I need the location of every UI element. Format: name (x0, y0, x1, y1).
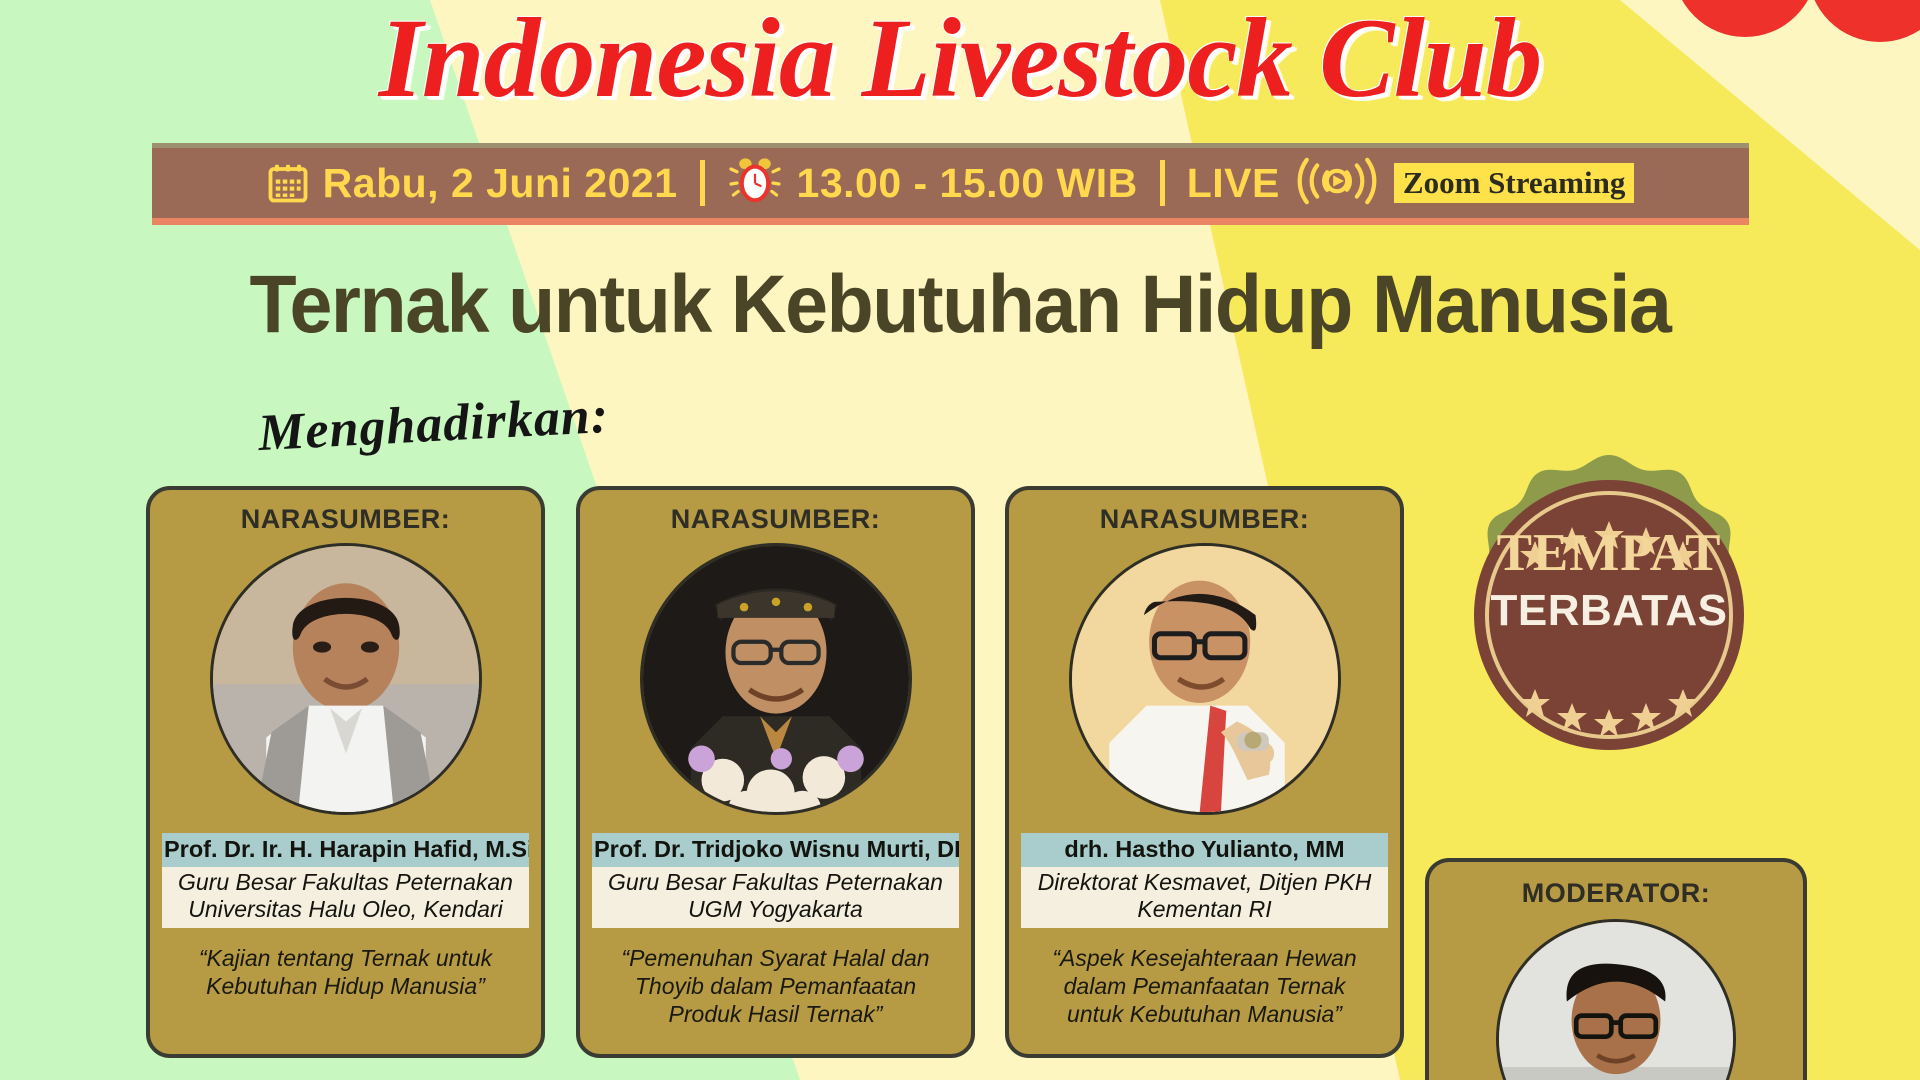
time-segment: 13.00 - 15.00 WIB (705, 155, 1160, 212)
speaker-affiliation-line2: UGM Yogyakarta (596, 896, 955, 923)
speaker-topic-line3: Produk Hasil Ternak” (592, 1000, 959, 1028)
speaker-role-label: NARASUMBER: (671, 504, 881, 535)
broadcast-icon (1294, 157, 1380, 210)
speaker-card: NARASUMBER: Prof. Dr. Ir. H. Harapin Haf… (146, 486, 545, 1058)
calendar-icon (267, 162, 309, 204)
moderator-card: MODERATOR: RNAK (1425, 858, 1807, 1080)
speaker-topic-line1: “Aspek Kesejahteraan Hewan (1021, 944, 1388, 972)
speaker-name: drh. Hastho Yulianto, MM (1021, 833, 1388, 867)
alarm-clock-icon (727, 155, 783, 212)
live-segment: LIVE Zoom Streaming (1165, 157, 1657, 210)
presenting-label: Menghadirkan: (257, 386, 611, 463)
speaker-topic-line2: Kebutuhan Hidup Manusia” (162, 972, 529, 1000)
speaker-topic: “Kajian tentang Ternak untuk Kebutuhan H… (162, 944, 529, 1000)
speaker-topic: “Aspek Kesejahteraan Hewan dalam Pemanfa… (1021, 944, 1388, 1028)
speaker-topic-line1: “Kajian tentang Ternak untuk (162, 944, 529, 972)
speaker-topic-line3: untuk Kebutuhan Manusia” (1021, 1000, 1388, 1028)
speaker-role-label: NARASUMBER: (1100, 504, 1310, 535)
event-info-banner: Rabu, 2 Juni 2021 (152, 143, 1749, 225)
speaker-photo (1069, 543, 1341, 815)
speaker-card: NARASUMBER: drh. Hastho Yulianto, MM Dir… (1005, 486, 1404, 1058)
event-time: 13.00 - 15.00 WIB (797, 160, 1138, 207)
speaker-affiliation: Guru Besar Fakultas Peternakan Universit… (162, 867, 529, 928)
live-label: LIVE (1187, 160, 1280, 207)
speaker-affiliation-line1: Direktorat Kesmavet, Ditjen PKH (1025, 869, 1384, 896)
speaker-affiliation-line1: Guru Besar Fakultas Peternakan (166, 869, 525, 896)
speaker-card: NARASUMBER: Pro (576, 486, 975, 1058)
speaker-topic-line2: Thoyib dalam Pemanfaatan (592, 972, 959, 1000)
moderator-photo: RNAK (1496, 919, 1736, 1080)
platform-badge: Zoom Streaming (1394, 163, 1634, 203)
speaker-photo (640, 543, 912, 815)
moderator-role-label: MODERATOR: (1522, 878, 1711, 909)
speaker-affiliation: Guru Besar Fakultas Peternakan UGM Yogya… (592, 867, 959, 928)
speaker-affiliation-line2: Kementan RI (1025, 896, 1384, 923)
event-headline: Ternak untuk Kebutuhan Hidup Manusia (58, 258, 1863, 352)
page-title: Indonesia Livestock Club (0, 0, 1920, 124)
speaker-affiliation-line2: Universitas Halu Oleo, Kendari (166, 896, 525, 923)
date-segment: Rabu, 2 Juni 2021 (245, 160, 700, 207)
speaker-name: Prof. Dr. Tridjoko Wisnu Murti, DEA (592, 833, 959, 867)
speaker-name: Prof. Dr. Ir. H. Harapin Hafid, M.Si (162, 833, 529, 867)
status-badge: TEMPAT TERBATAS (1443, 449, 1775, 781)
speaker-topic-line2: dalam Pemanfaatan Ternak (1021, 972, 1388, 1000)
speaker-topic-line1: “Pemenuhan Syarat Halal dan (592, 944, 959, 972)
event-date: Rabu, 2 Juni 2021 (323, 160, 678, 207)
speaker-role-label: NARASUMBER: (241, 504, 451, 535)
speaker-affiliation-line1: Guru Besar Fakultas Peternakan (596, 869, 955, 896)
speaker-photo (210, 543, 482, 815)
speaker-topic: “Pemenuhan Syarat Halal dan Thoyib dalam… (592, 944, 959, 1028)
speaker-affiliation: Direktorat Kesmavet, Ditjen PKH Kementan… (1021, 867, 1388, 928)
